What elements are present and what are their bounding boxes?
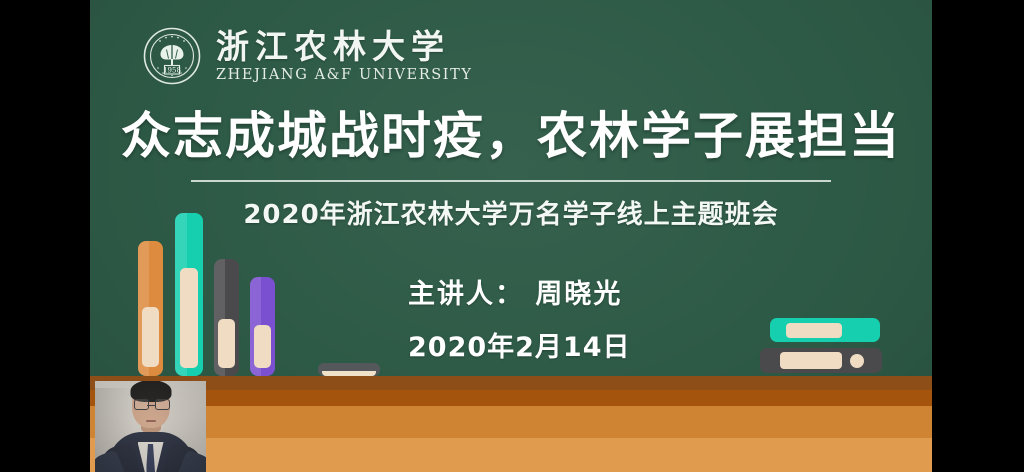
book-label bbox=[254, 325, 271, 368]
book-label bbox=[780, 352, 842, 369]
wordmark-chinese: 浙江农林大学 bbox=[216, 30, 473, 63]
book-label bbox=[180, 268, 198, 368]
university-logo: 1958 浙江农林大学 ZHEJIANG A&F UNIVERSITY bbox=[142, 26, 473, 86]
title-block: 众志成城战时疫，农林学子展担当 2020年浙江农林大学万名学子线上主题班会 bbox=[90, 108, 932, 231]
book-flat-gray bbox=[318, 363, 380, 376]
wordmark-english: ZHEJIANG A&F UNIVERSITY bbox=[216, 68, 473, 83]
book-label bbox=[142, 307, 159, 367]
book-orange bbox=[138, 241, 163, 376]
slide-main-title: 众志成城战时疫，农林学子展担当 bbox=[90, 108, 932, 166]
title-divider bbox=[191, 180, 831, 182]
university-wordmark: 浙江农林大学 ZHEJIANG A&F UNIVERSITY bbox=[216, 30, 473, 83]
stack-book-teal bbox=[770, 318, 880, 342]
university-seal-icon: 1958 bbox=[142, 26, 202, 86]
ledge-band-4 bbox=[90, 438, 932, 472]
speaker-video-thumbnail[interactable] bbox=[95, 381, 206, 472]
presenter-name-line: 主讲人： 周晓光 bbox=[408, 272, 631, 311]
book-gray bbox=[214, 259, 239, 376]
screen-root: 1958 浙江农林大学 ZHEJIANG A&F UNIVERSITY bbox=[0, 0, 1024, 472]
seal-year-text: 1958 bbox=[163, 66, 181, 74]
book-teal bbox=[175, 213, 203, 376]
presentation-slide: 1958 浙江农林大学 ZHEJIANG A&F UNIVERSITY bbox=[90, 0, 932, 472]
ledge-band-1 bbox=[90, 376, 932, 390]
book-purple bbox=[250, 277, 275, 376]
book-label bbox=[786, 323, 842, 338]
book-label bbox=[218, 319, 235, 368]
book-dot bbox=[850, 354, 864, 368]
book-pages bbox=[322, 371, 376, 376]
presentation-date-line: 2020年2月14日 bbox=[408, 325, 631, 364]
slide-subtitle: 2020年浙江农林大学万名学子线上主题班会 bbox=[90, 194, 932, 231]
upright-books-group bbox=[138, 206, 298, 376]
presenter-block: 主讲人： 周晓光 2020年2月14日 bbox=[408, 272, 631, 364]
stack-book-gray bbox=[760, 348, 882, 373]
wooden-ledge bbox=[90, 376, 932, 472]
stacked-books-group bbox=[760, 318, 890, 376]
ledge-band-2 bbox=[90, 390, 932, 406]
ledge-band-3 bbox=[90, 406, 932, 438]
video-vignette bbox=[95, 381, 206, 472]
